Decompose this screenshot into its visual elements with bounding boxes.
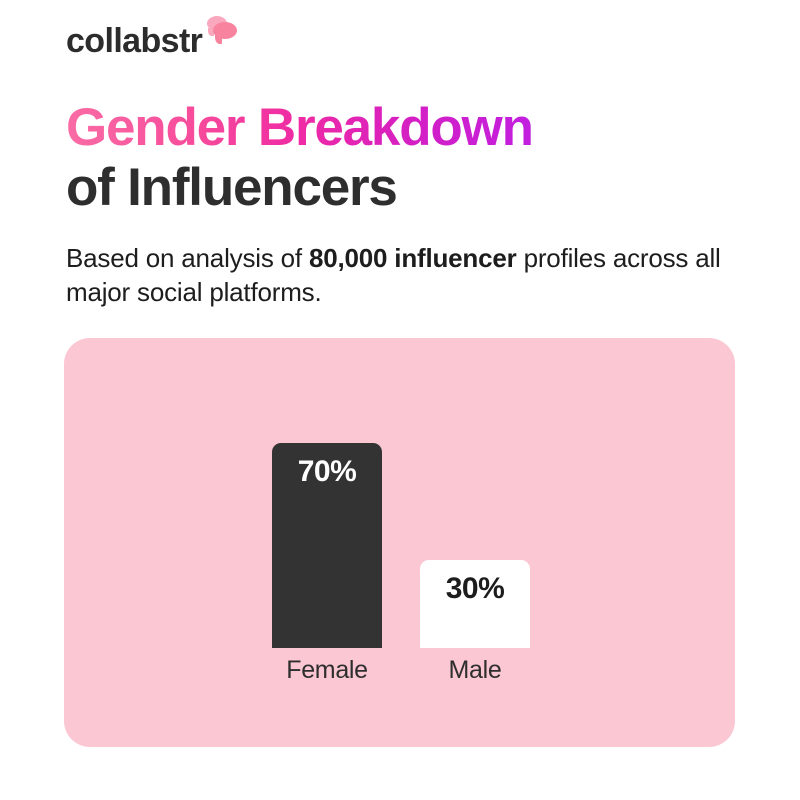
title-line-2: of Influencers (66, 158, 746, 218)
bar-male[interactable]: 30% (420, 560, 530, 648)
title-line-1: Gender Breakdown (66, 98, 533, 158)
page-subtitle: Based on analysis of 80,000 influencer p… (66, 242, 746, 310)
page-title: Gender Breakdown of Influencers (66, 98, 746, 218)
title-line-1-wrapper: Gender Breakdown (66, 98, 746, 158)
subtitle-emphasis: 80,000 influencer (309, 243, 517, 273)
chart-card: 70% Female 30% Male (64, 338, 735, 747)
bar-value-female: 70% (272, 455, 382, 489)
brand-logo[interactable]: collabstr (66, 24, 239, 58)
bar-label-female: Female (252, 656, 402, 685)
bar-female[interactable]: 70% (272, 443, 382, 648)
speech-bubble-front-icon (213, 22, 237, 39)
infographic-page: collabstr Gender Breakdown of Influencer… (0, 0, 800, 800)
brand-wordmark: collabstr (66, 24, 202, 58)
bar-label-male: Male (400, 656, 550, 685)
bar-value-male: 30% (420, 572, 530, 606)
subtitle-prefix: Based on analysis of (66, 243, 309, 273)
bar-chart: 70% Female 30% Male (64, 338, 735, 747)
speech-bubbles-icon (203, 16, 239, 46)
